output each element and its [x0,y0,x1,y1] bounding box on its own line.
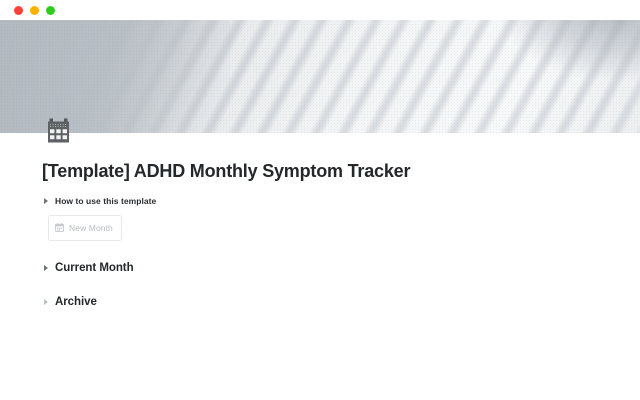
toggle-current-month[interactable]: Current Month [42,259,600,277]
new-month-button-wrapper: New Month [48,215,600,241]
chevron-right-icon[interactable] [44,198,48,204]
new-month-button-label: New Month [69,223,113,233]
chevron-right-icon[interactable] [44,265,48,271]
chevron-right-icon[interactable] [44,299,48,305]
toggle-how-to-use-this-template[interactable]: How to use this template [42,194,600,209]
toggle-label: Archive [55,296,97,308]
toggle-label: How to use this template [55,196,156,206]
toggle-archive[interactable]: Archive [42,293,600,311]
calendar-icon[interactable] [48,118,76,146]
calendar-icon [55,219,64,237]
cover-grain-texture [0,20,640,133]
maximize-window-icon[interactable] [46,6,55,15]
close-window-icon[interactable] [14,6,23,15]
browser-window: [Template] ADHD Monthly Symptom Tracker … [0,0,640,400]
minimize-window-icon[interactable] [30,6,39,15]
page-body: [Template] ADHD Monthly Symptom Tracker … [0,133,640,311]
page-cover-image[interactable] [0,20,640,133]
traffic-light-controls [14,6,55,15]
toggle-label: Current Month [55,262,134,274]
new-month-button[interactable]: New Month [48,215,122,241]
window-titlebar [0,0,640,20]
page-content: [Template] ADHD Monthly Symptom Tracker … [0,133,640,311]
page-title[interactable]: [Template] ADHD Monthly Symptom Tracker [42,161,600,183]
